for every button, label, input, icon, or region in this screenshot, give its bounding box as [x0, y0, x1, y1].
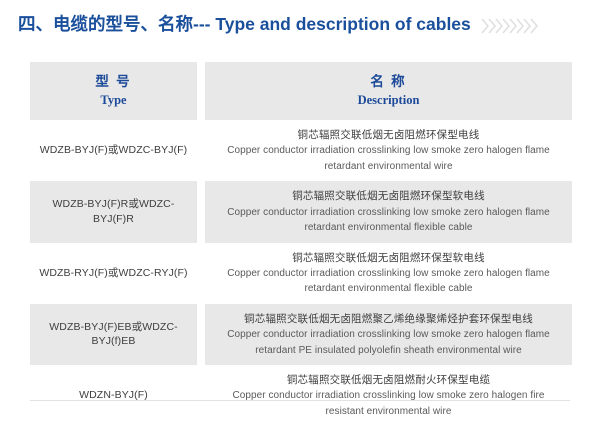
cable-description-cn: 铜芯辐照交联低烟无卤阻燃聚乙烯绝缘聚烯烃护套环保型电线	[215, 311, 562, 327]
chevron-right-icon	[530, 16, 539, 36]
page-root: 四、电缆的型号、名称--- Type and description of ca…	[0, 0, 600, 411]
cable-description-en: Copper conductor irradiation crosslinkin…	[215, 388, 562, 419]
cable-type-table: 型 号 Type 名 称 Description WDZB-BYJ(F)或WDZ…	[30, 62, 572, 426]
table-header-row: 型 号 Type 名 称 Description	[30, 62, 572, 120]
column-header-type: 型 号 Type	[30, 62, 197, 120]
table-row: WDZB-BYJ(F)或WDZC-BYJ(F) 铜芯辐照交联低烟无卤阻燃环保型电…	[30, 120, 572, 181]
cell-type: WDZN-BYJ(F)	[30, 365, 197, 426]
cable-type-text: WDZN-BYJ(F)	[30, 384, 197, 407]
cell-description: 铜芯辐照交联低烟无卤阻燃环保型软电线 Copper conductor irra…	[205, 181, 572, 242]
column-header-description-cn: 名 称	[209, 73, 568, 91]
column-header-description: 名 称 Description	[205, 62, 572, 120]
cable-description-en: Copper conductor irradiation crosslinkin…	[215, 266, 562, 297]
cable-description-en: Copper conductor irradiation crosslinkin…	[215, 205, 562, 236]
page-title: 四、电缆的型号、名称--- Type and description of ca…	[18, 16, 471, 34]
cable-description-en: Copper conductor irradiation crosslinkin…	[215, 327, 562, 358]
column-header-type-en: Type	[34, 92, 193, 109]
cell-type: WDZB-BYJ(F)或WDZC-BYJ(F)	[30, 120, 197, 181]
column-divider	[197, 304, 205, 365]
cable-description-cn: 铜芯辐照交联低烟无卤阻燃环保型软电线	[215, 250, 562, 266]
table-row: WDZN-BYJ(F) 铜芯辐照交联低烟无卤阻燃耐火环保型电缆 Copper c…	[30, 365, 572, 426]
table-bottom-divider	[30, 400, 570, 401]
cell-description: 铜芯辐照交联低烟无卤阻燃耐火环保型电缆 Copper conductor irr…	[205, 365, 572, 426]
column-header-description-en: Description	[209, 92, 568, 109]
column-divider	[197, 243, 205, 304]
cable-type-text: WDZB-BYJ(F)EB或WDZC-BYJ(f)EB	[30, 316, 197, 353]
section-title-bar: 四、电缆的型号、名称--- Type and description of ca…	[0, 0, 600, 50]
table-row: WDZB-BYJ(F)R或WDZC-BYJ(F)R 铜芯辐照交联低烟无卤阻燃环保…	[30, 181, 572, 242]
cable-type-text: WDZB-BYJ(F)R或WDZC-BYJ(F)R	[30, 193, 197, 230]
cable-type-text: WDZB-BYJ(F)或WDZC-BYJ(F)	[30, 139, 197, 162]
table-row: WDZB-RYJ(F)或WDZC-RYJ(F) 铜芯辐照交联低烟无卤阻燃环保型软…	[30, 243, 572, 304]
cable-description-cn: 铜芯辐照交联低烟无卤阻燃环保型电线	[215, 127, 562, 143]
cell-type: WDZB-BYJ(F)EB或WDZC-BYJ(f)EB	[30, 304, 197, 365]
column-header-type-cn: 型 号	[34, 73, 193, 91]
column-divider	[197, 181, 205, 242]
column-divider	[197, 365, 205, 426]
cell-type: WDZB-BYJ(F)R或WDZC-BYJ(F)R	[30, 181, 197, 242]
chevron-decoration	[483, 16, 539, 36]
table-row: WDZB-BYJ(F)EB或WDZC-BYJ(f)EB 铜芯辐照交联低烟无卤阻燃…	[30, 304, 572, 365]
cable-description-en: Copper conductor irradiation crosslinkin…	[215, 143, 562, 174]
column-divider	[197, 62, 205, 120]
column-divider	[197, 120, 205, 181]
cell-description: 铜芯辐照交联低烟无卤阻燃聚乙烯绝缘聚烯烃护套环保型电线 Copper condu…	[205, 304, 572, 365]
cable-description-cn: 铜芯辐照交联低烟无卤阻燃环保型软电线	[215, 188, 562, 204]
cell-description: 铜芯辐照交联低烟无卤阻燃环保型电线 Copper conductor irrad…	[205, 120, 572, 181]
cable-type-text: WDZB-RYJ(F)或WDZC-RYJ(F)	[30, 262, 197, 285]
cell-type: WDZB-RYJ(F)或WDZC-RYJ(F)	[30, 243, 197, 304]
cable-description-cn: 铜芯辐照交联低烟无卤阻燃耐火环保型电缆	[215, 372, 562, 388]
cell-description: 铜芯辐照交联低烟无卤阻燃环保型软电线 Copper conductor irra…	[205, 243, 572, 304]
